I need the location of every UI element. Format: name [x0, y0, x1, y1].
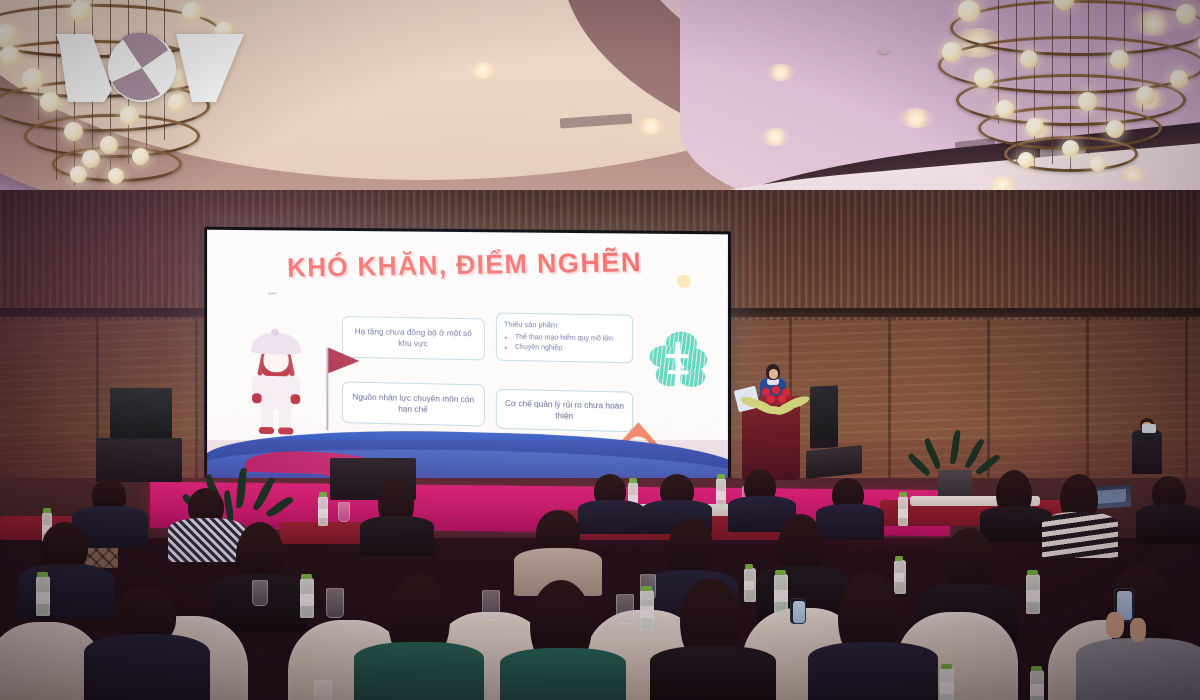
projection-screen[interactable]: KHÓ KHĂN, ĐIỂM NGHẼN ˜˜˜ Hạ tầng chưa đồ… [204, 227, 731, 497]
tree-illustration [648, 331, 710, 393]
downlight-icon [468, 62, 498, 79]
chandelier-globe [70, 0, 92, 22]
chandelier-globe [1018, 152, 1034, 168]
plant-frond [950, 430, 961, 465]
drinking-glass [326, 588, 344, 618]
chandelier-globe [120, 106, 139, 125]
chandelier-globe [1090, 156, 1106, 172]
audience-torso [808, 642, 938, 700]
chandelier-globe [1078, 92, 1097, 111]
chandelier-globe [1110, 50, 1129, 69]
audience-torso [816, 504, 884, 540]
hiker-boot [278, 427, 293, 434]
smartphone-screen [793, 601, 805, 623]
audience-area [0, 470, 1200, 700]
speaker-face [769, 369, 778, 379]
chandelier-globe [1136, 86, 1155, 105]
bottle-cap [941, 664, 952, 669]
drinking-glass [252, 580, 268, 606]
loudspeaker-podium-side [810, 385, 838, 448]
hiker-illustration [245, 328, 307, 436]
chandelier-globe [82, 150, 100, 168]
bottle-label [1026, 590, 1040, 602]
bottle-cap [641, 586, 652, 591]
drinking-glass [482, 590, 500, 620]
chandelier-globe [1062, 140, 1079, 157]
bottle-label [898, 509, 908, 518]
bottle-cap [1031, 666, 1042, 671]
audience-head [668, 518, 714, 578]
flag-icon [328, 348, 359, 374]
audience-torso [168, 518, 246, 562]
bottle-label [744, 581, 754, 590]
chandelier-rod [1034, 0, 1035, 170]
doodle-icon: ˜˜˜ [268, 291, 278, 302]
chandelier-globe [1020, 50, 1038, 68]
bottle-label [716, 491, 726, 500]
vov-watermark [56, 28, 246, 108]
tree-blob [678, 366, 705, 387]
list-item: Chuyên nghiệp [515, 343, 613, 354]
water-bottle [36, 576, 50, 616]
chandelier-globe [100, 136, 118, 154]
camera-icon [1142, 424, 1156, 433]
presentation-slide: KHÓ KHĂN, ĐIỂM NGHẼN ˜˜˜ Hạ tầng chưa đồ… [207, 230, 728, 494]
downlight-icon [766, 64, 796, 81]
hiker-boot [259, 427, 274, 434]
audience-torso [18, 564, 114, 620]
loudspeaker-left-top [110, 388, 172, 440]
rose-icon [767, 395, 775, 403]
drinking-glass [338, 502, 350, 522]
chandelier-globe [942, 42, 962, 62]
bottle-cap [43, 508, 51, 513]
bottle-cap [301, 574, 312, 579]
chandelier-globe [996, 100, 1014, 118]
chandelier-globe [108, 168, 124, 184]
audience-torso [500, 648, 626, 700]
audience-torso [354, 642, 484, 700]
bottle-cap [717, 474, 725, 479]
bottle-cap [899, 492, 907, 497]
water-bottle [640, 590, 654, 630]
bottle-label [774, 590, 788, 602]
chandelier-rod [1016, 0, 1017, 162]
bottle-cap [319, 492, 327, 497]
slide-title: KHÓ KHĂN, ĐIỂM NGHẼN [207, 245, 728, 285]
audience-torso [1136, 504, 1200, 544]
audience-head [778, 514, 824, 574]
bottle-label [300, 594, 314, 606]
hand [1106, 612, 1124, 638]
plant-frond [922, 438, 942, 470]
list-item: Thể thao mạo hiểm quy mô lớn [515, 333, 613, 344]
slide-box-1-text: Hạ tầng chưa đồng bộ ở một số khu vực [351, 326, 476, 351]
chandelier-rod [38, 0, 39, 120]
audience-torso [1076, 638, 1200, 700]
hand [1130, 618, 1146, 642]
rose-icon [778, 395, 786, 403]
hiker-hand [291, 394, 301, 404]
bottle-label [940, 682, 954, 694]
bottle-cap [1027, 570, 1038, 575]
water-bottle [774, 574, 788, 614]
smoke-detector-icon [878, 48, 889, 54]
water-bottle [1030, 670, 1044, 700]
chandelier-globe [22, 68, 44, 90]
chandelier-globe [182, 2, 202, 22]
audience-torso [578, 500, 644, 534]
podium-flower-arrangement [740, 386, 812, 414]
drinking-glass [616, 594, 634, 624]
audience-torso [1042, 512, 1118, 558]
slide-box-4-text: Cơ chế quản lý rủi ro chưa hoàn thiện [505, 398, 624, 423]
water-bottle [940, 668, 954, 700]
tree-branch [666, 354, 689, 358]
slide-box-2-bullets: Thể thao mạo hiểm quy mô lớn Chuyên nghi… [504, 332, 613, 356]
conical-hat-icon [251, 332, 301, 355]
water-bottle [898, 496, 908, 526]
slide-box-2: Thiếu sản phẩm: Thể thao mạo hiểm quy mô… [496, 313, 633, 364]
bottle-label [894, 573, 904, 582]
tree-branch [668, 370, 689, 374]
downlight-icon [636, 118, 666, 135]
chandelier-globe [64, 122, 83, 141]
bottle-cap [775, 570, 786, 575]
slide-box-1: Hạ tầng chưa đồng bộ ở một số khu vực [342, 316, 485, 360]
bottle-label [36, 592, 50, 604]
smartphone[interactable] [790, 598, 806, 624]
chandelier-globe [1170, 70, 1188, 88]
bottle-cap [895, 556, 903, 561]
slide-box-3-text: Nguồn nhân lực chuyên môn còn hạn chế [351, 391, 476, 416]
downlight-icon [898, 108, 934, 128]
hiker-hand [252, 393, 262, 403]
drinking-glass [314, 680, 332, 700]
audience-torso [650, 646, 776, 700]
downlight-icon [760, 128, 790, 146]
slide-box-2-heading: Thiếu sản phẩm: [504, 320, 559, 331]
chandelier-globe [974, 68, 994, 88]
conference-photo: KHỞ du lịch thể thao [0, 0, 1200, 700]
water-bottle [300, 578, 314, 618]
flower-leaf [762, 405, 785, 415]
slide-box-3: Nguồn nhân lực chuyên môn còn hạn chế [342, 381, 485, 426]
chandelier-globe [70, 166, 87, 183]
chandelier-rod [1052, 0, 1053, 164]
audience-torso [360, 516, 434, 556]
chandelier-right [930, 0, 1200, 204]
bottle-cap [37, 572, 48, 577]
chandelier-rod [1106, 0, 1107, 144]
chandelier-globe [0, 46, 20, 66]
conical-hat-tip [271, 329, 279, 336]
chandelier-globe [1026, 118, 1044, 136]
tree-trunk [675, 342, 680, 389]
chandelier-globe [132, 148, 149, 165]
water-bottle [894, 560, 906, 594]
chandelier-globe [1176, 4, 1196, 24]
chandelier-globe [1106, 120, 1124, 138]
water-bottle [716, 478, 726, 508]
photographer-body [1132, 430, 1162, 474]
water-bottle [1026, 574, 1040, 614]
chandelier-rod [1088, 0, 1089, 154]
rose-icon [772, 386, 780, 394]
chandelier-globe [958, 0, 980, 22]
water-bottle [318, 496, 328, 526]
bottle-label [640, 606, 654, 618]
bottle-label [1030, 684, 1044, 696]
bottle-cap [629, 478, 637, 483]
audience-torso [84, 634, 210, 700]
sun-icon [677, 275, 690, 288]
bottle-label [318, 509, 328, 518]
bottle-cap [745, 564, 753, 569]
water-bottle [744, 568, 756, 602]
